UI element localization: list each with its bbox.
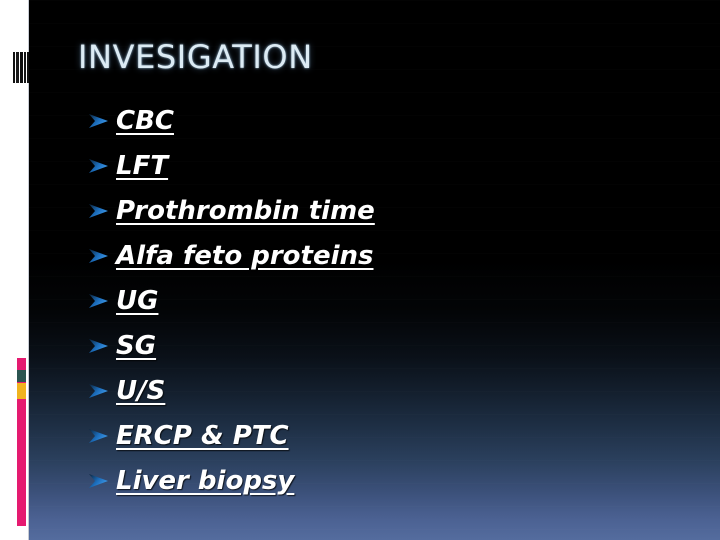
list-item: ERCP & PTC <box>88 413 688 458</box>
list-item: Prothrombin time <box>88 188 688 233</box>
list-item-label: Prothrombin time <box>116 196 375 226</box>
list-item-label: ERCP & PTC <box>116 421 289 451</box>
blue-arrowhead-bullet-icon <box>88 157 110 175</box>
list-item: Alfa feto proteins <box>88 233 688 278</box>
blue-arrowhead-bullet-icon <box>88 382 110 400</box>
list-item-label: CBC <box>116 106 174 136</box>
blue-arrowhead-bullet-icon <box>88 427 110 445</box>
blue-arrowhead-bullet-icon <box>88 292 110 310</box>
list-item: SG <box>88 323 688 368</box>
list-item-label: SG <box>116 331 156 361</box>
blue-arrowhead-bullet-icon <box>88 337 110 355</box>
blue-arrowhead-bullet-icon <box>88 112 110 130</box>
list-item: U/S <box>88 368 688 413</box>
list-item-label: U/S <box>116 376 165 406</box>
list-item: LFT <box>88 143 688 188</box>
bullet-list: CBC LFT Prothrombin time Alfa feto prote… <box>88 98 688 503</box>
list-item: Liver biopsy <box>88 458 688 503</box>
slide-canvas: INVESIGATION CBC LFT Prot <box>0 0 720 540</box>
slide-title: INVESIGATION <box>78 38 313 76</box>
list-item-label: UG <box>116 286 158 316</box>
barcode-stripes-ornament-icon <box>13 52 29 83</box>
list-item-label: LFT <box>116 151 168 181</box>
teal-chip-accent <box>17 370 26 382</box>
list-item: CBC <box>88 98 688 143</box>
list-item: UG <box>88 278 688 323</box>
amber-chip-accent <box>17 383 26 399</box>
blue-arrowhead-bullet-icon <box>88 472 110 490</box>
list-item-label: Alfa feto proteins <box>116 241 374 271</box>
blue-arrowhead-bullet-icon <box>88 247 110 265</box>
blue-arrowhead-bullet-icon <box>88 202 110 220</box>
list-item-label: Liver biopsy <box>116 466 294 496</box>
